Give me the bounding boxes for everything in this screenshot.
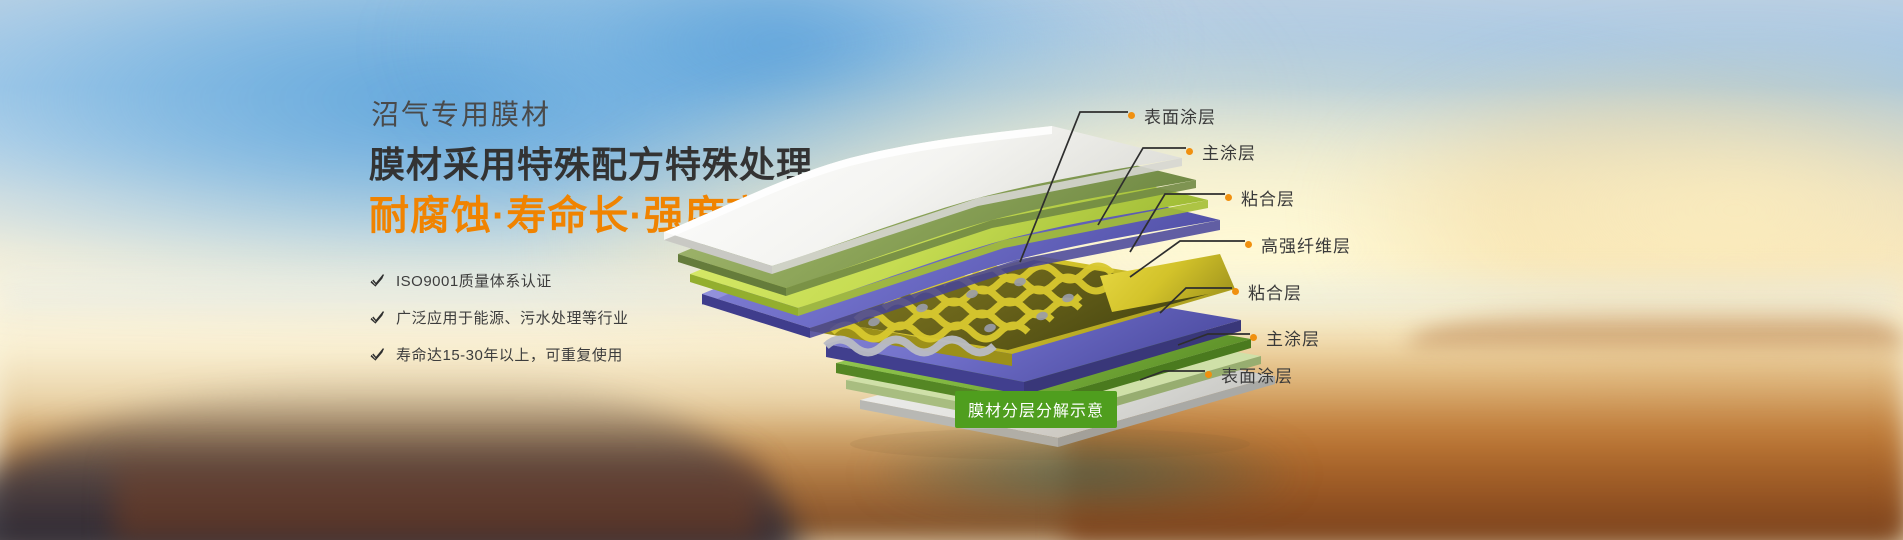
callout-dot-icon [1245,241,1252,248]
callout-dot-icon [1225,194,1232,201]
feature-label: 广泛应用于能源、污水处理等行业 [396,307,629,328]
callout-high-strength-fiber: 高强纤维层 [1245,232,1351,257]
callout-main-coating-top: 主涂层 [1186,139,1256,164]
check-mark-icon [369,309,386,326]
callout-dot-icon [1186,148,1193,155]
callout-surface-coating-top: 表面涂层 [1128,103,1216,128]
diagram-caption-badge: 膜材分层分解示意 [955,391,1117,428]
callout-label: 主涂层 [1266,325,1320,350]
callout-label: 粘合层 [1248,279,1302,304]
callout-surface-coating-bottom: 表面涂层 [1205,362,1293,387]
callout-adhesive-bottom: 粘合层 [1232,279,1302,304]
check-mark-icon [369,346,386,363]
callout-label: 粘合层 [1241,185,1295,210]
callout-dot-icon [1205,371,1212,378]
callout-label: 表面涂层 [1144,103,1216,128]
hero-banner: 沼气专用膜材 膜材采用特殊配方特殊处理 耐腐蚀·寿命长·强度高 ISO9001质… [0,0,1903,540]
feature-label: 寿命达15-30年以上，可重复使用 [396,344,623,365]
callout-main-coating-bottom: 主涂层 [1250,325,1320,350]
callout-dot-icon [1250,334,1257,341]
callout-dot-icon [1128,112,1135,119]
callout-adhesive-top: 粘合层 [1225,185,1295,210]
check-mark-icon [369,272,386,289]
callout-label: 主涂层 [1202,139,1256,164]
callout-dot-icon [1232,288,1239,295]
callout-label: 高强纤维层 [1261,232,1351,257]
callout-label: 表面涂层 [1221,362,1293,387]
feature-label: ISO9001质量体系认证 [396,270,552,291]
